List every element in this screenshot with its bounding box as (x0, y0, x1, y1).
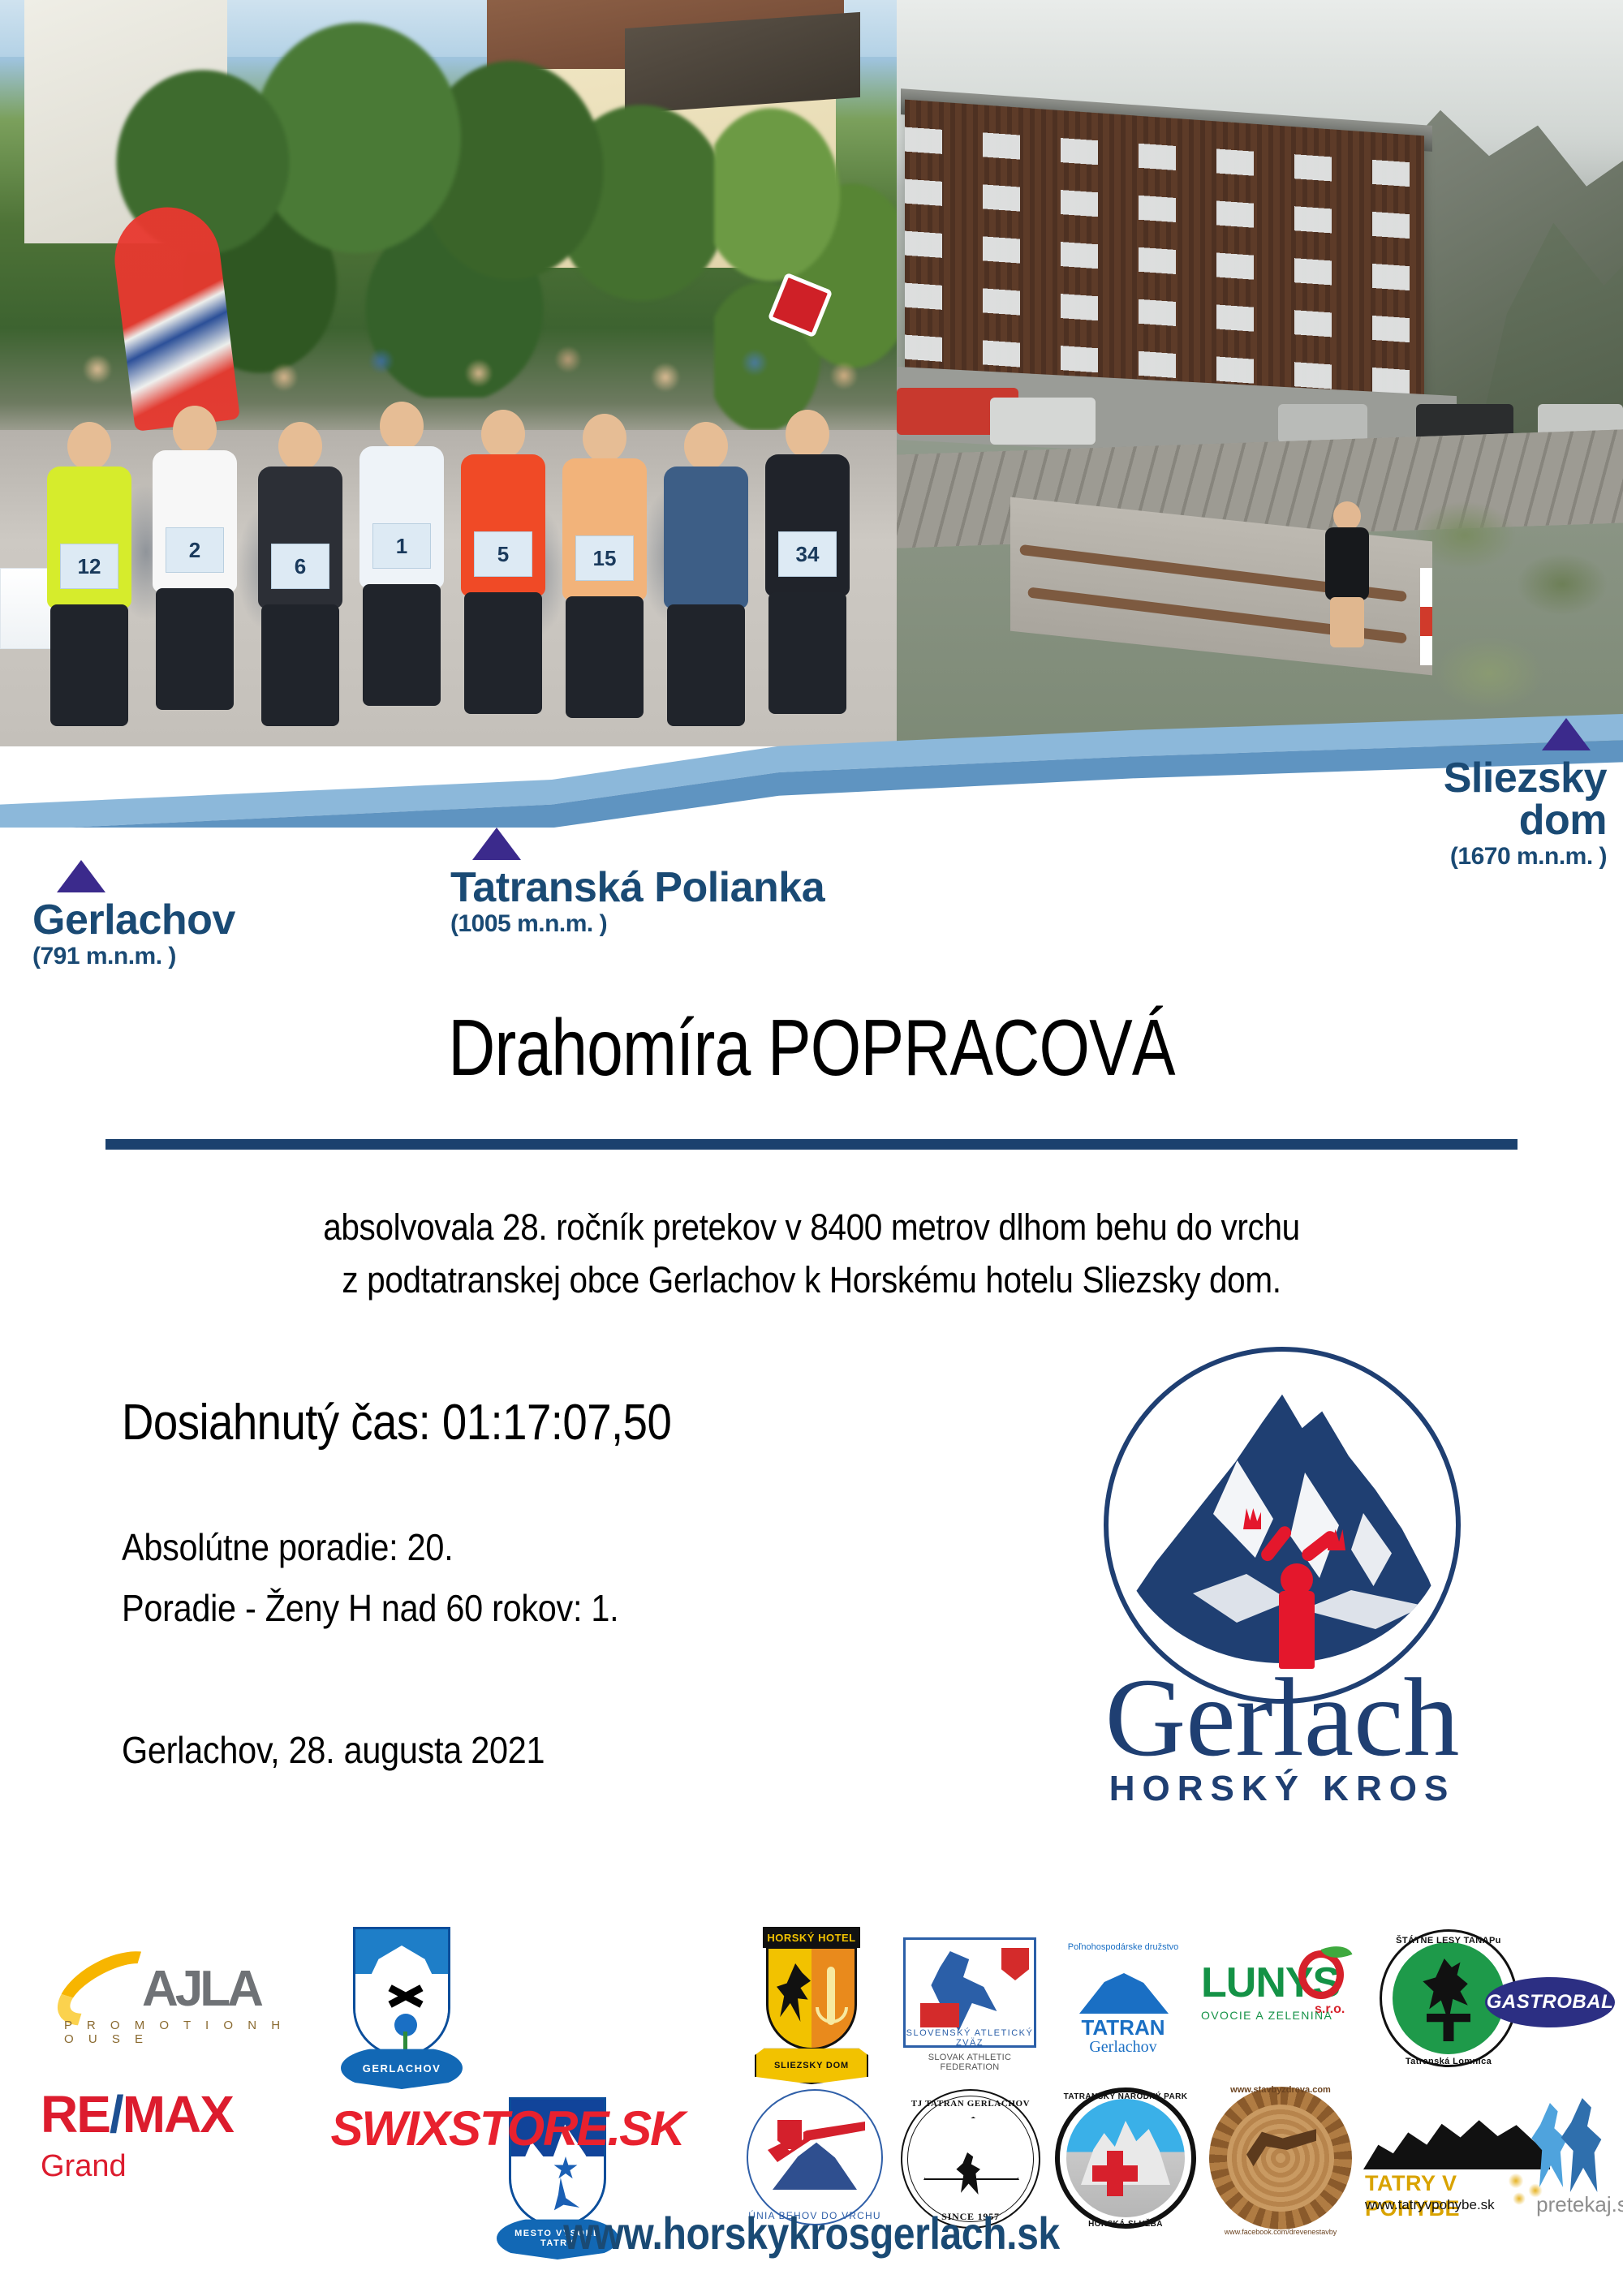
ajla-mark: AJLA P R O M O T I O N H O U S E (53, 1955, 304, 2028)
divider-rule (105, 1139, 1518, 1150)
szd-top-label: www.stavbyzdreva.com (1209, 2085, 1352, 2095)
runner-silhouette: 15 (560, 414, 649, 746)
sponsor-logo-tatran-gerlachov: Poľnohospodárske družstvo TATRAN Gerlach… (1055, 1931, 1193, 2073)
remax-re: RE (41, 2085, 110, 2143)
race-bib: 5 (474, 531, 532, 577)
hs-top-label: TATRANSKÝ NÁRODNÝ PARK (1055, 2092, 1196, 2101)
ajla-name: AJLA (142, 1960, 260, 2018)
tatran-name: TATRAN (1055, 2015, 1191, 2040)
runner-legs (1330, 597, 1364, 647)
gerlach-horsky-kros-logo: Gerlach HORSKÝ KROS (1055, 1347, 1509, 1825)
saz-name: SLOVENSKÝ ATLETICKÝ ZVÄZ (903, 2028, 1036, 2048)
runner-silhouette (661, 422, 751, 746)
runner-figure-icon-light (1529, 2103, 1573, 2187)
sliezsky-dom-photo (897, 0, 1623, 746)
runner-torso (664, 467, 748, 608)
runner-torso (1325, 527, 1369, 600)
mountain-triangle-icon (57, 860, 105, 892)
marker-altitude: (1670 m.n.m. ) (1363, 845, 1607, 869)
ajla-tagline: P R O M O T I O N H O U S E (64, 2019, 304, 2046)
runner-silhouette: 2 (150, 406, 239, 746)
footer-website[interactable]: www.horskykrosgerlach.sk (114, 2207, 1509, 2259)
race-bib: 34 (778, 531, 837, 577)
elevation-marker-sliezsky-dom: Sliezsky dom (1670 m.n.m. ) (1363, 718, 1607, 869)
tatran-subtitle: Gerlachov (1055, 2038, 1191, 2057)
elevation-marker-tatranska-polianka: Tatranská Polianka (1005 m.n.m. ) (450, 828, 824, 936)
runner-legs (363, 584, 441, 706)
race-description: absolvovala 28. ročník pretekov v 8400 m… (81, 1201, 1542, 1307)
slovak-coat-of-arms-icon (1001, 1948, 1029, 1980)
hs-sky-disc (1066, 2099, 1185, 2217)
parked-car (1278, 404, 1367, 443)
gastrobal-ellipse: GASTROBAL (1485, 1977, 1615, 2027)
tj-top-label: TJ TATRAN GERLACHOV (901, 2099, 1040, 2109)
marker-name: Sliezsky dom (1363, 757, 1607, 841)
runner-legs (566, 596, 644, 718)
runner-legs (667, 604, 745, 726)
sponsor-logo-gerlachov-crest: GERLACHOV (341, 1927, 463, 2097)
marker-name: Gerlachov (32, 899, 235, 941)
elevation-marker-gerlachov: Gerlachov (791 m.n.m. ) (32, 860, 235, 969)
runner-head (481, 410, 525, 458)
mountain-icon (1079, 1973, 1169, 2014)
result-time: Dosiahnutý čas: 01:17:07,50 (122, 1394, 671, 1451)
red-block (920, 2003, 959, 2027)
race-bib: 12 (60, 544, 118, 589)
mountain-range-icon (1363, 2108, 1550, 2169)
runner-legs (768, 592, 846, 714)
marker-altitude: (1005 m.n.m. ) (450, 912, 824, 936)
trail-marker-pole (1420, 568, 1432, 665)
logo-wordmark: Gerlach (1055, 1662, 1509, 1774)
runner-head (786, 410, 829, 458)
sponsor-logo-sliezsky-dom: HORSKÝ HOTEL SLIEZSKY DOM (755, 1927, 868, 2089)
logo-tagline: HORSKÝ KROS (1055, 1769, 1509, 1809)
vegetation (1416, 487, 1623, 746)
hotel-crest-shield (766, 1946, 857, 2050)
runner-legs (464, 592, 542, 714)
runner-head (684, 422, 728, 471)
swixstore-wordmark: SWIXSTORE.SK (331, 2100, 684, 2156)
gastrobal-wordmark: GASTROBAL (1487, 1991, 1614, 2014)
athlete-name: Drahomíra POPRACOVÁ (146, 1002, 1477, 1094)
runner-legs (261, 604, 339, 726)
crest-shield (353, 1927, 450, 2057)
sponsor-logo-gastrobal: GASTROBAL (1485, 1970, 1615, 2035)
description-line-1: absolvovala 28. ročník pretekov v 8400 m… (81, 1201, 1542, 1253)
runner-silhouette: 34 (763, 410, 852, 746)
overall-rank: Absolútne poradie: 20. (122, 1525, 453, 1569)
sponsor-logos: AJLA P R O M O T I O N H O U S E RE/MAX … (0, 1923, 1623, 2215)
race-bib: 2 (166, 527, 224, 573)
finishing-runner (1319, 501, 1375, 656)
sponsor-logo-remax: RE/MAX Grand (41, 2081, 284, 2186)
sponsor-logo-lunys: LUNYS s.r.o. OVOCIE A ZELENINA (1201, 1947, 1355, 2061)
mountain-triangle-icon (1542, 718, 1591, 750)
hygieia-bowl-icon (816, 2007, 848, 2023)
hotel-windows (905, 100, 1424, 416)
runner-silhouette: 12 (45, 422, 134, 746)
certificate-page: 12 2 6 1 (0, 0, 1623, 2296)
sponsor-logo-ajla: AJLA P R O M O T I O N H O U S E (49, 1939, 308, 2044)
remax-tagline: Grand (41, 2149, 127, 2184)
runner-silhouette: 1 (357, 402, 446, 746)
runner-silhouette: 6 (256, 422, 345, 746)
tanap-top-label: ŠTÁTNE LESY TANAPu (1380, 1936, 1518, 1946)
runner-legs (156, 588, 234, 710)
tatran-top-label: Poľnohospodárske družstvo (1055, 1942, 1191, 1952)
runner-head (583, 414, 626, 462)
runner-legs (50, 604, 128, 726)
marker-altitude: (791 m.n.m. ) (32, 944, 235, 969)
sponsor-logo-slovensky-atleticky-zvaz: SLOVENSKÝ ATLETICKÝ ZVÄZ SLOVAK ATHLETIC… (897, 1937, 1043, 2083)
parked-car (990, 398, 1096, 445)
saz-subtitle: SLOVAK ATHLETIC FEDERATION (903, 2053, 1036, 2072)
runner-head (278, 422, 322, 471)
runner-head (1333, 501, 1361, 531)
crest-ribbon-label: GERLACHOV (341, 2047, 463, 2089)
remax-slash: / (110, 2085, 123, 2143)
mountain-triangle-icon (472, 828, 521, 860)
remax-max: MAX (123, 2085, 233, 2143)
runner-silhouette: 5 (458, 410, 548, 746)
hotel-band-label: HORSKÝ HOTEL (763, 1927, 860, 1948)
sponsor-logo-swixstore: SWIXSTORE.SK (329, 2092, 686, 2165)
race-bib: 15 (575, 535, 634, 581)
wood-rings-icon (1227, 2105, 1334, 2212)
runner-head (67, 422, 111, 471)
race-bib: 6 (271, 544, 329, 589)
hotel-ribbon-label: SLIEZSKY DOM (755, 2047, 868, 2084)
race-start-photo: 12 2 6 1 (0, 0, 897, 746)
lunys-tagline: OVOCIE A ZELENINA (1201, 2009, 1332, 2022)
category-rank: Poradie - Ženy H nad 60 rokov: 1. (122, 1586, 618, 1630)
sponsor-logo-pretekaj: pretekaj.sk (1526, 2103, 1623, 2233)
runner-head (173, 406, 217, 454)
crossed-hammers-icon (388, 1980, 425, 2012)
description-line-2: z podtatranskej obce Gerlachov k Horském… (81, 1253, 1542, 1306)
eagle-icon (777, 1963, 811, 2022)
tanap-bottom-label: Tatranská Lomnica (1380, 2057, 1518, 2066)
marker-name: Tatranská Polianka (450, 866, 824, 909)
runner-head (380, 402, 424, 450)
figure-arm-left (1259, 1524, 1294, 1563)
pretekaj-wordmark: pretekaj.sk (1522, 2192, 1623, 2217)
race-bib: 1 (372, 523, 431, 569)
runner-figure-icon-dark (1558, 2098, 1608, 2192)
remax-wordmark: RE/MAX (41, 2084, 233, 2144)
photo-banner: 12 2 6 1 (0, 0, 1623, 828)
place-and-date: Gerlachov, 28. augusta 2021 (122, 1728, 545, 1772)
red-cross-icon-bar (1092, 2165, 1138, 2182)
